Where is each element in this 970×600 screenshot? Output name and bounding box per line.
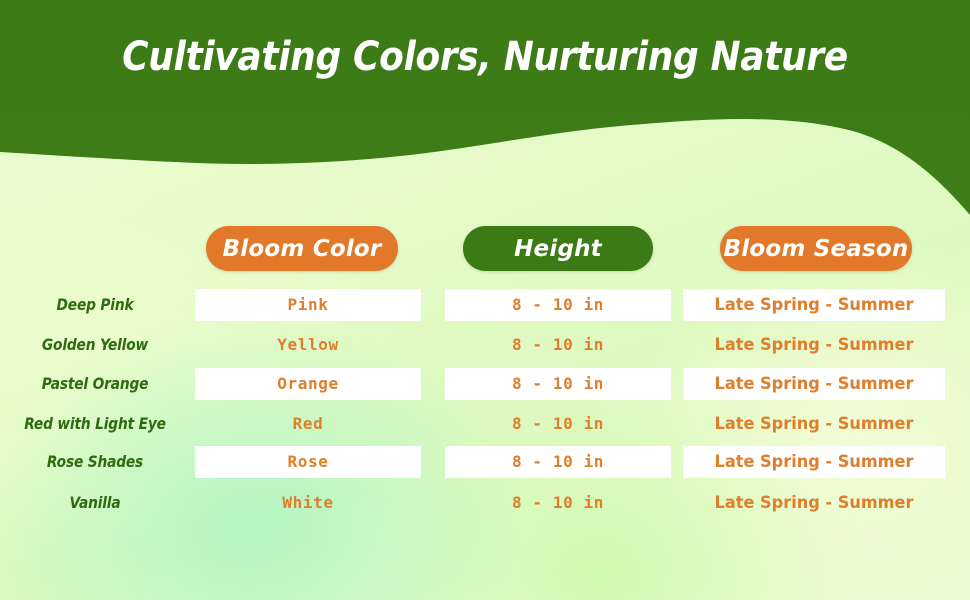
cell-height: 8 - 10 in (445, 329, 671, 361)
infographic-canvas: Cultivating Colors, Nurturing Nature Blo… (0, 0, 970, 600)
cell-bloom-color: Pink (195, 289, 421, 321)
row-label: Rose Shades (13, 446, 176, 478)
cell-bloom-season: Late Spring - Summer (690, 487, 939, 519)
cell-height: 8 - 10 in (445, 487, 671, 519)
cell-bloom-season: Late Spring - Summer (690, 368, 939, 400)
cell-bloom-color: Yellow (195, 329, 421, 361)
column-header-bloom-color[interactable]: Bloom Color (206, 226, 398, 271)
cell-height: 8 - 10 in (445, 446, 671, 478)
cell-bloom-season: Late Spring - Summer (690, 289, 939, 321)
cell-bloom-color: White (195, 487, 421, 519)
table-row[interactable]: Rose Shades Rose 8 - 10 in Late Spring -… (0, 446, 970, 478)
comparison-table: Bloom Color Height Bloom Season Deep Pin… (0, 0, 970, 600)
table-row[interactable]: Vanilla White 8 - 10 in Late Spring - Su… (0, 487, 970, 519)
column-header-bloom-season[interactable]: Bloom Season (720, 226, 912, 271)
table-row[interactable]: Golden Yellow Yellow 8 - 10 in Late Spri… (0, 329, 970, 361)
row-label: Pastel Orange (13, 368, 176, 400)
cell-bloom-color: Rose (195, 446, 421, 478)
row-label: Golden Yellow (13, 329, 176, 361)
row-label: Deep Pink (13, 289, 176, 321)
row-label: Vanilla (13, 487, 176, 519)
cell-height: 8 - 10 in (445, 368, 671, 400)
page-title: Cultivating Colors, Nurturing Nature (49, 34, 922, 80)
row-label: Red with Light Eye (13, 408, 176, 440)
table-row[interactable]: Red with Light Eye Red 8 - 10 in Late Sp… (0, 408, 970, 440)
column-header-height[interactable]: Height (463, 226, 653, 271)
cell-bloom-season: Late Spring - Summer (690, 446, 939, 478)
cell-bloom-season: Late Spring - Summer (690, 329, 939, 361)
cell-height: 8 - 10 in (445, 408, 671, 440)
cell-bloom-color: Red (195, 408, 421, 440)
cell-height: 8 - 10 in (445, 289, 671, 321)
cell-bloom-color: Orange (195, 368, 421, 400)
table-row[interactable]: Pastel Orange Orange 8 - 10 in Late Spri… (0, 368, 970, 400)
table-row[interactable]: Deep Pink Pink 8 - 10 in Late Spring - S… (0, 289, 970, 321)
cell-bloom-season: Late Spring - Summer (690, 408, 939, 440)
